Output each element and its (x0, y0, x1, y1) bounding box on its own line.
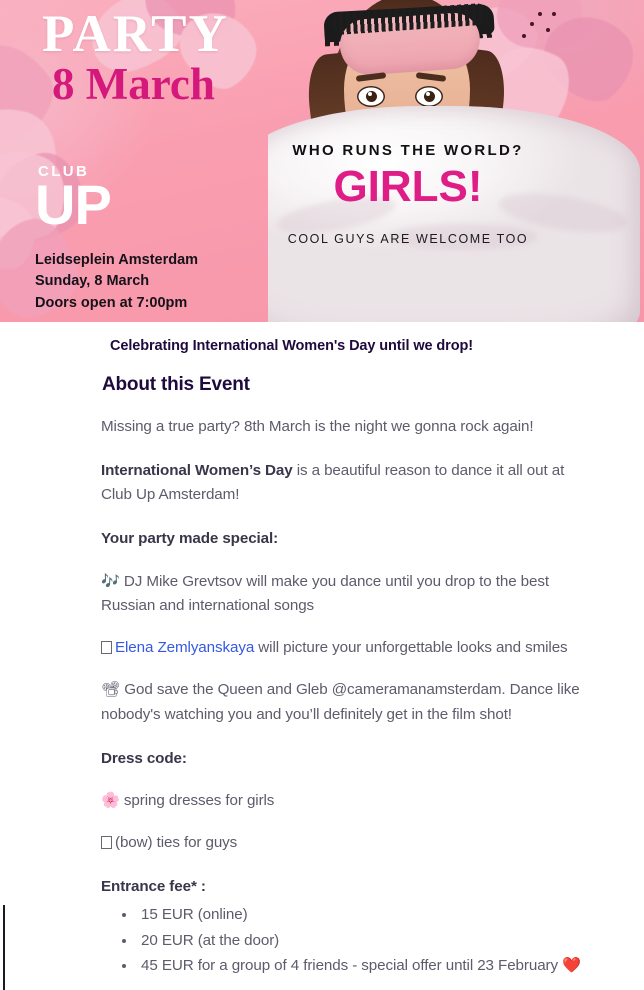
entrance-fee-heading: Entrance fee* : (101, 875, 591, 900)
hero-date: 8 March (52, 62, 215, 107)
dress-girls-item: 🌸 spring dresses for girls (101, 788, 591, 814)
dress-guys-text: (bow) ties for guys (115, 834, 237, 851)
cherry-blossom-icon: 🌸 (101, 791, 120, 809)
photographer-item: Elena Zemlyanskaya will picture your unf… (101, 636, 591, 661)
dress-girls-text: spring dresses for girls (120, 792, 275, 809)
photographer-rest-text: will picture your unforgettable looks an… (254, 639, 567, 656)
dj-text: DJ Mike Grevtsov will make you dance unt… (101, 573, 549, 615)
hero-title: PARTY (42, 8, 229, 61)
hero-date-line: Sunday, 8 March (35, 271, 198, 292)
club-up-logo: CLUB UP (35, 164, 111, 229)
videographer-text: God save the Queen and Gleb @cameramanam… (101, 681, 580, 723)
pillow-subtext: COOL GUYS ARE WELCOME TOO (258, 232, 558, 246)
list-item: 45 EUR for a group of 4 friends - specia… (137, 954, 591, 979)
pillow-slogan: WHO RUNS THE WORLD? GIRLS! COOL GUYS ARE… (258, 142, 558, 246)
event-tagline: Celebrating International Women's Day un… (110, 338, 644, 354)
hero-venue-line: Leidseplein Amsterdam (35, 250, 198, 271)
dj-item: 🎶 DJ Mike Grevtsov will make you dance u… (101, 569, 591, 619)
dress-code-heading: Dress code: (101, 747, 591, 772)
photographer-link[interactable]: Elena Zemlyanskaya (115, 639, 254, 656)
bow-tie-icon (101, 836, 112, 849)
entrance-fee-list: 15 EUR (online) 20 EUR (at the door) 45 … (137, 903, 591, 979)
videographer-item: 📽 God save the Queen and Gleb @cameraman… (101, 677, 591, 727)
page-title: About this Event (102, 374, 644, 396)
iwd-bold-text: International Women’s Day (101, 462, 293, 479)
description-content: Missing a true party? 8th March is the n… (101, 415, 591, 990)
iwd-paragraph: International Women’s Day is a beautiful… (101, 459, 591, 508)
film-camera-icon: 📽 (101, 680, 120, 698)
logo-up-text: UP (35, 181, 111, 229)
special-heading: Your party made special: (101, 527, 591, 552)
event-description: Celebrating International Women's Day un… (0, 322, 644, 990)
musical-notes-icon: 🎶 (101, 572, 120, 590)
event-hero-banner: PARTY 8 March CLUB UP Leidseplein Amster… (0, 0, 644, 322)
list-item: 20 EUR (at the door) (137, 929, 591, 954)
dress-guys-item: (bow) ties for guys (101, 831, 591, 856)
list-item: 15 EUR (online) (137, 903, 591, 928)
hero-venue-info: Leidseplein Amsterdam Sunday, 8 March Do… (35, 250, 198, 314)
hero-doors-line: Doors open at 7:00pm (35, 293, 198, 314)
intro-paragraph: Missing a true party? 8th March is the n… (101, 415, 591, 440)
camera-flash-icon (101, 641, 112, 654)
pillow-question: WHO RUNS THE WORLD? (258, 142, 558, 159)
left-edge-rule (3, 905, 5, 990)
pillow-answer: GIRLS! (258, 164, 558, 210)
event-page: PARTY 8 March CLUB UP Leidseplein Amster… (0, 0, 644, 990)
